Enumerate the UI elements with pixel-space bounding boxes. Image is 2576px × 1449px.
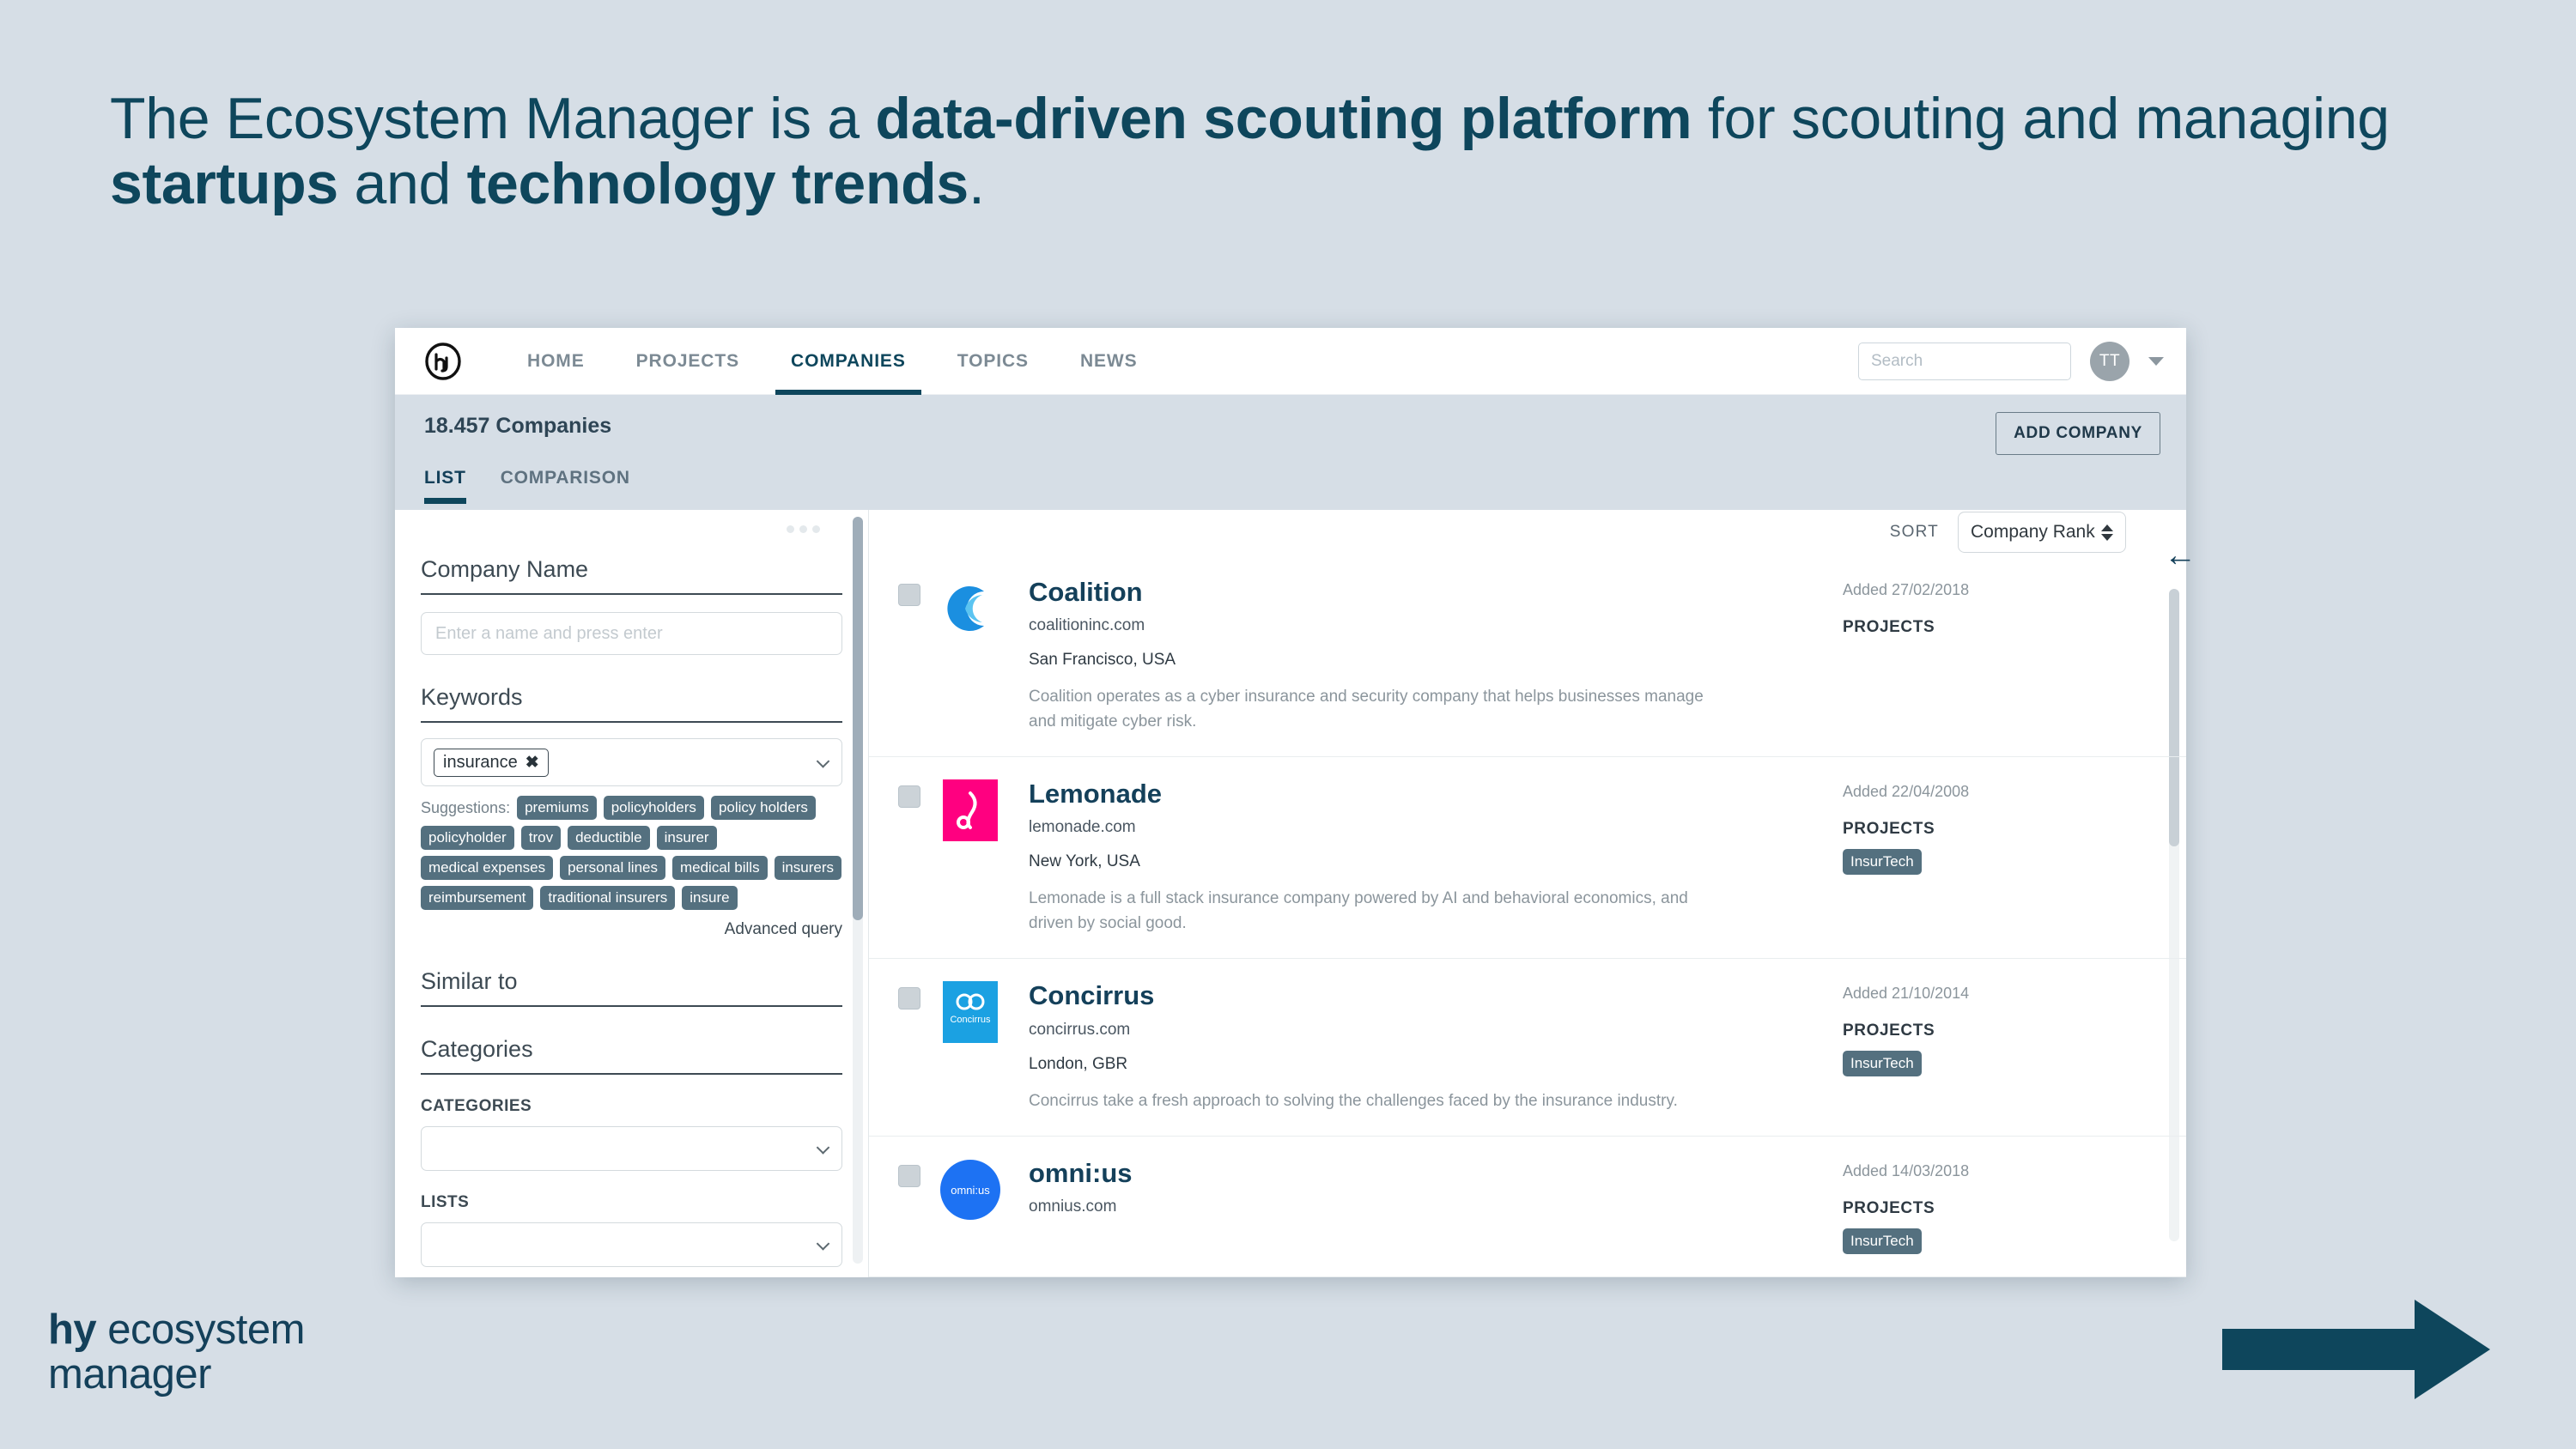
company-name[interactable]: omni:us <box>1029 1159 1843 1188</box>
row-checkbox[interactable] <box>898 584 920 606</box>
headline-bold-2: startups <box>110 151 338 216</box>
slide: The Ecosystem Manager is a data-driven s… <box>0 0 2576 1449</box>
app-subheader: 18.457 Companies ADD COMPANY LIST COMPAR… <box>395 395 2186 510</box>
lists-select-label: LISTS <box>421 1193 842 1212</box>
company-location: London, GBR <box>1029 1055 1843 1074</box>
categories-select[interactable] <box>421 1126 842 1171</box>
company-name[interactable]: Concirrus <box>1029 981 1843 1010</box>
filter-company-name: Company Name Enter a name and press ente… <box>421 556 842 655</box>
company-location: San Francisco, USA <box>1029 651 1843 670</box>
suggestion-chip[interactable]: medical bills <box>672 856 768 880</box>
suggestion-chip[interactable]: traditional insurers <box>540 886 675 910</box>
company-url[interactable]: lemonade.com <box>1029 818 1843 837</box>
footer-logo-ecosystem: ecosystem <box>96 1307 305 1353</box>
company-row[interactable]: Concirrus Concirrus concirrus.com London… <box>869 959 2186 1137</box>
projects-label: PROJECTS <box>1843 1199 2126 1218</box>
filter-similar-to: Similar to <box>421 968 842 1007</box>
suggestions-label: Suggestions: <box>421 799 510 817</box>
app-window: HOME PROJECTS COMPANIES TOPICS NEWS Sear… <box>395 328 2186 1277</box>
headline-bold-3: technology trends <box>467 151 969 216</box>
projects-label: PROJECTS <box>1843 618 2126 637</box>
chevron-down-icon[interactable] <box>2148 357 2164 366</box>
add-company-button[interactable]: ADD COMPANY <box>1996 412 2160 455</box>
advanced-query-link[interactable]: Advanced query <box>421 920 842 939</box>
company-info: omni:us omnius.com <box>1029 1159 1843 1254</box>
company-row[interactable]: omni:us omni:us omnius.com Added 14/03/2… <box>869 1137 2186 1277</box>
footer-logo-manager: manager <box>48 1351 211 1397</box>
suggestion-chip[interactable]: medical expenses <box>421 856 553 880</box>
nav-right: Search TT <box>1858 342 2164 381</box>
company-info: Lemonade lemonade.com New York, USA Lemo… <box>1029 779 1843 936</box>
projects-label: PROJECTS <box>1843 1022 2126 1040</box>
next-slide-arrow-icon[interactable] <box>2222 1294 2490 1409</box>
company-row[interactable]: Lemonade lemonade.com New York, USA Lemo… <box>869 757 2186 959</box>
lists-select[interactable] <box>421 1222 842 1267</box>
headline-part-1: The Ecosystem Manager is a <box>110 86 875 151</box>
view-tabs: LIST COMPARISON <box>424 468 2157 499</box>
nav-links: HOME PROJECTS COMPANIES TOPICS NEWS <box>501 328 1163 395</box>
page-title: The Ecosystem Manager is a data-driven s… <box>110 86 2428 216</box>
company-description: Lemonade is a full stack insurance compa… <box>1029 887 1716 936</box>
sort-select[interactable]: Company Rank <box>1958 512 2126 553</box>
suggestion-chip[interactable]: deductible <box>568 826 650 850</box>
company-name-input[interactable]: Enter a name and press enter <box>421 612 842 655</box>
company-added-date: Added 14/03/2018 <box>1843 1162 2126 1180</box>
collapse-panel-arrow-icon[interactable]: ← <box>2157 532 2203 579</box>
lemonade-logo-icon <box>939 779 1001 841</box>
company-meta: Added 14/03/2018 PROJECTS InsurTech <box>1843 1159 2126 1254</box>
filter-keywords: Keywords insurance ✖ Suggestions: premiu… <box>421 684 842 939</box>
remove-keyword-icon[interactable]: ✖ <box>526 753 539 773</box>
hy-logo-icon[interactable] <box>424 343 462 380</box>
suggestion-chip[interactable]: insurers <box>775 856 841 880</box>
omnius-logo-icon: omni:us <box>939 1159 1001 1221</box>
nav-item-news[interactable]: NEWS <box>1054 328 1163 395</box>
company-row[interactable]: Coalition coalitioninc.com San Francisco… <box>869 555 2186 757</box>
company-name[interactable]: Lemonade <box>1029 779 1843 809</box>
avatar[interactable]: TT <box>2090 342 2129 381</box>
suggestion-chip[interactable]: premiums <box>517 796 597 820</box>
chevron-down-icon[interactable] <box>817 1141 830 1155</box>
company-count: 18.457 Companies <box>424 414 2157 439</box>
row-checkbox[interactable] <box>898 1165 920 1187</box>
filter-categories: Categories CATEGORIES LISTS PROJECTS <box>421 1036 842 1277</box>
sort-label: SORT <box>1890 523 1939 542</box>
project-badge[interactable]: InsurTech <box>1843 1228 1922 1254</box>
stepper-icon[interactable] <box>2101 524 2113 541</box>
suggestion-chip[interactable]: policy holders <box>711 796 816 820</box>
company-description: Coalition operates as a cyber insurance … <box>1029 685 1716 734</box>
filter-categories-title: Categories <box>421 1036 842 1075</box>
sort-select-value: Company Rank <box>1971 522 2095 543</box>
suggestion-chip[interactable]: trov <box>521 826 561 850</box>
suggestion-chip[interactable]: policyholders <box>604 796 704 820</box>
filter-keywords-title: Keywords <box>421 684 842 723</box>
nav-item-topics[interactable]: TOPICS <box>932 328 1054 395</box>
row-checkbox[interactable] <box>898 785 920 808</box>
headline-part-4: . <box>969 151 985 216</box>
company-url[interactable]: coalitioninc.com <box>1029 616 1843 635</box>
company-url[interactable]: concirrus.com <box>1029 1021 1843 1040</box>
keywords-select[interactable]: insurance ✖ <box>421 738 842 786</box>
tab-comparison[interactable]: COMPARISON <box>501 468 630 499</box>
headline-bold-1: data-driven scouting platform <box>875 86 1692 151</box>
company-info: Concirrus concirrus.com London, GBR Conc… <box>1029 981 1843 1113</box>
app-navbar: HOME PROJECTS COMPANIES TOPICS NEWS Sear… <box>395 328 2186 395</box>
filter-company-name-title: Company Name <box>421 556 842 595</box>
nav-item-companies[interactable]: COMPANIES <box>765 328 932 395</box>
headline-part-3: and <box>338 151 467 216</box>
nav-item-projects[interactable]: PROJECTS <box>611 328 765 395</box>
tab-list[interactable]: LIST <box>424 468 466 499</box>
projects-label: PROJECTS <box>1843 820 2126 839</box>
search-input[interactable]: Search <box>1858 343 2071 380</box>
keyword-token-insurance[interactable]: insurance ✖ <box>434 749 549 777</box>
chevron-down-icon[interactable] <box>817 1237 830 1251</box>
project-badge[interactable]: InsurTech <box>1843 1051 1922 1076</box>
keyword-suggestions: Suggestions: premiums policyholders poli… <box>421 796 842 910</box>
company-added-date: Added 22/04/2008 <box>1843 783 2126 801</box>
footer-logo-hy: hy <box>48 1307 96 1353</box>
filter-panel-scrollbar[interactable] <box>853 517 863 1264</box>
suggestion-chip[interactable]: insurer <box>657 826 717 850</box>
categories-select-label: CATEGORIES <box>421 1097 842 1116</box>
more-options-icon[interactable] <box>787 525 820 533</box>
suggestion-chip[interactable]: personal lines <box>560 856 665 880</box>
headline-part-2: for scouting and managing <box>1692 86 2390 151</box>
company-info: Coalition coalitioninc.com San Francisco… <box>1029 578 1843 734</box>
company-meta: Added 27/02/2018 PROJECTS <box>1843 578 2126 734</box>
filter-panel: Company Name Enter a name and press ente… <box>395 510 869 1277</box>
project-badge[interactable]: InsurTech <box>1843 849 1922 875</box>
results-panel: SORT Company Rank <box>869 510 2186 1277</box>
chevron-down-icon[interactable] <box>817 755 830 768</box>
company-meta: Added 21/10/2014 PROJECTS InsurTech <box>1843 981 2126 1113</box>
nav-item-home[interactable]: HOME <box>501 328 611 395</box>
company-added-date: Added 21/10/2014 <box>1843 985 2126 1003</box>
app-body: Company Name Enter a name and press ente… <box>395 510 2186 1277</box>
company-meta: Added 22/04/2008 PROJECTS InsurTech <box>1843 779 2126 936</box>
company-location: New York, USA <box>1029 852 1843 871</box>
company-added-date: Added 27/02/2018 <box>1843 581 2126 599</box>
filter-similar-to-title: Similar to <box>421 968 842 1007</box>
concirrus-logo-icon: Concirrus <box>939 981 1001 1043</box>
row-checkbox[interactable] <box>898 987 920 1009</box>
suggestion-chip[interactable]: reimbursement <box>421 886 533 910</box>
keyword-token-label: insurance <box>443 753 518 773</box>
company-description: Concirrus take a fresh approach to solvi… <box>1029 1089 1716 1114</box>
footer-logo: hy ecosystem manager <box>48 1308 305 1397</box>
svg-text:omni:us: omni:us <box>951 1184 990 1197</box>
suggestion-chip[interactable]: insure <box>682 886 737 910</box>
company-url[interactable]: omnius.com <box>1029 1197 1843 1216</box>
svg-text:Concirrus: Concirrus <box>950 1015 991 1025</box>
suggestion-chip[interactable]: policyholder <box>421 826 514 850</box>
company-name[interactable]: Coalition <box>1029 578 1843 607</box>
coalition-logo-icon <box>939 578 1001 640</box>
results-toolbar: SORT Company Rank <box>869 510 2186 555</box>
